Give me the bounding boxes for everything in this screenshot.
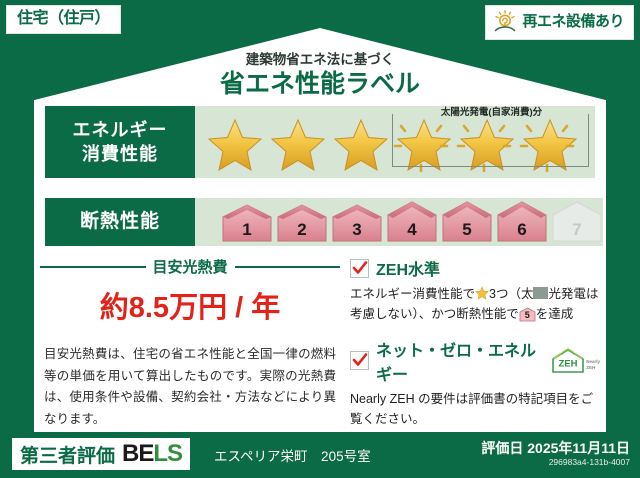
zeh-logo-icon: ZEH Nearly ZEH bbox=[551, 347, 600, 374]
claim-body-part1: エネルギー消費性能で bbox=[350, 287, 475, 301]
insulation-level-number: 6 bbox=[496, 220, 548, 240]
insulation-house-7-inactive: 7 bbox=[551, 201, 603, 243]
mini-star-icon bbox=[475, 286, 489, 300]
claim-title: ネット・ゼロ・エネルギー bbox=[376, 337, 541, 385]
mini-house-number: 5 bbox=[519, 308, 536, 323]
insulation-level-number: 4 bbox=[386, 220, 438, 240]
redacted-text-block bbox=[533, 287, 548, 299]
insulation-house-6: 6 bbox=[496, 201, 548, 243]
insulation-level-number: 2 bbox=[276, 220, 328, 240]
insulation-level-number: 3 bbox=[331, 220, 383, 240]
svg-text:ZEH: ZEH bbox=[559, 359, 578, 370]
insulation-performance-row: 断熱性能 1 2 3 bbox=[45, 198, 595, 246]
rule-left bbox=[40, 266, 146, 268]
insulation-house-1: 1 bbox=[221, 201, 273, 243]
claim-body: エネルギー消費性能で3つ（太光発電は考慮しない）、かつ断熱性能で5を達成 bbox=[350, 284, 600, 325]
claim-net-zero-energy: ネット・ゼロ・エネルギー ZEH Nearly ZEH bbox=[350, 337, 600, 430]
insulation-house-4: 4 bbox=[386, 201, 438, 243]
solar-bracket bbox=[392, 114, 589, 167]
building-type-badge: 住宅（住戸） bbox=[6, 5, 121, 34]
claim-body-star: 3つ（太 bbox=[489, 287, 533, 301]
energy-performance-rating: 太陽光発電(自家消費)分 bbox=[195, 106, 595, 178]
insulation-house-5: 5 bbox=[441, 201, 493, 243]
claim-zeh-standard: ZEH水準 エネルギー消費性能で3つ（太光発電は考慮しない）、かつ断熱性能で5を… bbox=[350, 256, 600, 325]
claim-body: Nearly ZEH の要件は評価書の特記項目をご覧ください。 bbox=[350, 389, 600, 430]
insulation-performance-label: 断熱性能 bbox=[45, 198, 195, 246]
zeh-logo-subtext: Nearly ZEH bbox=[586, 359, 600, 374]
building-type-label: 住宅（住戸） bbox=[17, 10, 110, 27]
checkbox-checked-icon bbox=[350, 351, 369, 370]
claim-title: ZEH水準 bbox=[376, 256, 440, 280]
insulation-level-number: 7 bbox=[551, 220, 603, 240]
utility-cost-note: 目安光熱費は、住宅の省エネ性能と全国一律の燃料等の単価を用いて算出したものです。… bbox=[40, 344, 340, 430]
rule-right bbox=[235, 266, 341, 268]
energy-performance-label: エネルギー 消費性能 bbox=[45, 106, 195, 178]
utility-cost-section: 目安光熱費 約8.5万円 / 年 目安光熱費は、住宅の省エネ性能と全国一律の燃料… bbox=[40, 256, 340, 430]
claims-section: ZEH水準 エネルギー消費性能で3つ（太光発電は考慮しない）、かつ断熱性能で5を… bbox=[350, 256, 600, 431]
claim-body-part3: を達成 bbox=[536, 307, 574, 321]
renewable-equipment-label: 再エネ設備あり bbox=[522, 14, 624, 31]
utility-cost-value: 約8.5万円 / 年 bbox=[40, 284, 340, 326]
star-icon bbox=[203, 116, 266, 174]
utility-cost-heading-text: 目安光熱費 bbox=[153, 256, 228, 277]
property-name: エスペリア栄町 205号室 bbox=[214, 445, 371, 465]
evaluation-id: 296983a4-131b-4007 bbox=[549, 457, 630, 467]
solar-sun-icon bbox=[492, 9, 518, 35]
insulation-scale: 1 2 3 4 bbox=[195, 201, 603, 243]
evaluation-date: 評価日 2025年11月11日 bbox=[481, 438, 630, 458]
footer: 第三者評価 BELS エスペリア栄町 205号室 評価日 2025年11月11日… bbox=[0, 432, 640, 478]
star-icon bbox=[329, 116, 392, 174]
utility-cost-heading: 目安光熱費 bbox=[40, 256, 340, 277]
page-title: 省エネ性能ラベル bbox=[34, 64, 606, 100]
mini-insulation-house-icon: 5 bbox=[519, 307, 536, 322]
bels-jp-label: 第三者評価 bbox=[20, 441, 115, 468]
bels-logo: 第三者評価 BELS bbox=[12, 438, 190, 470]
energy-performance-row: エネルギー 消費性能 bbox=[45, 106, 595, 178]
label-house-panel: 建築物省エネ法に基づく 省エネ性能ラベル エネルギー 消費性能 bbox=[34, 28, 606, 440]
insulation-level-number: 1 bbox=[221, 220, 273, 240]
insulation-performance-rating: 1 2 3 4 bbox=[195, 198, 603, 246]
renewable-equipment-badge: 再エネ設備あり bbox=[485, 5, 634, 40]
insulation-house-3: 3 bbox=[331, 201, 383, 243]
star-icon bbox=[266, 116, 329, 174]
energy-label-root: 住宅（住戸） 再エネ設備あり 建築物省エネ法に基づく 省エネ性能ラベル bbox=[0, 0, 640, 478]
insulation-level-number: 5 bbox=[441, 220, 493, 240]
insulation-house-2: 2 bbox=[276, 201, 328, 243]
bels-en-label: BELS bbox=[122, 440, 182, 468]
checkbox-checked-icon bbox=[350, 259, 369, 278]
